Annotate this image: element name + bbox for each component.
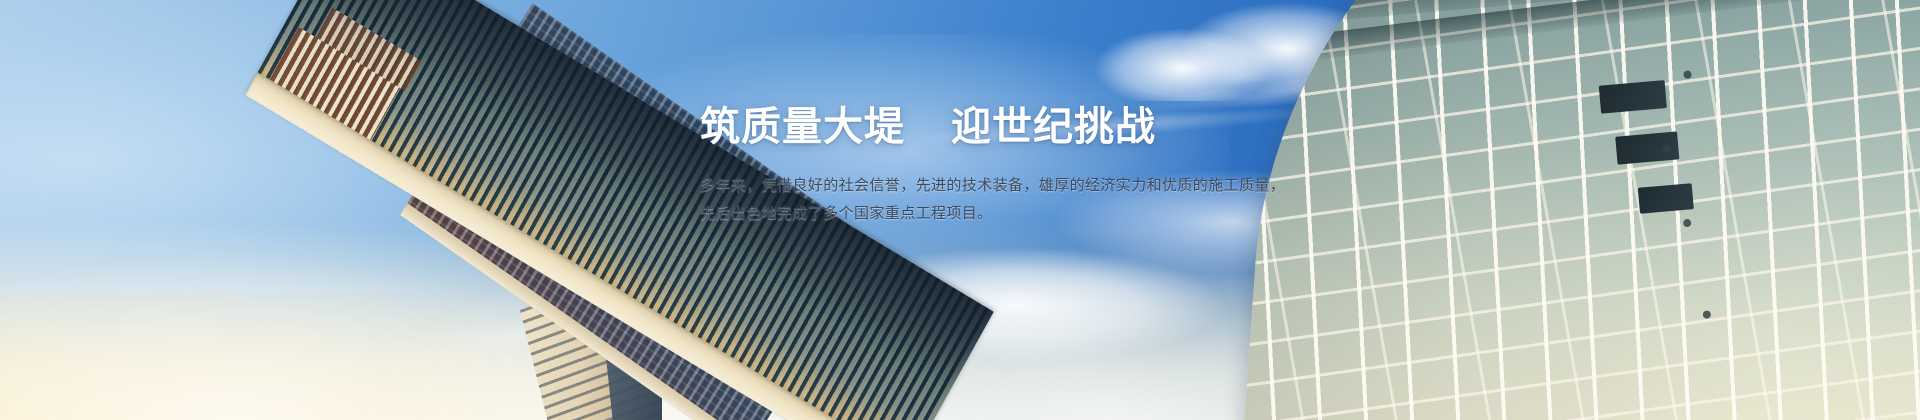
curved-tower-window-slot	[1599, 80, 1667, 114]
banner-headline: 筑质量大堤迎世纪挑战	[700, 104, 1340, 150]
banner-subtitle-line-1: 多年来，凭借良好的社会信誉，先进的技术装备，雄厚的经济实力和优质的施工质量，	[700, 172, 1340, 200]
curved-tower-window-slot	[1638, 183, 1694, 214]
banner-copy-block: 筑质量大堤迎世纪挑战 多年来，凭借良好的社会信誉，先进的技术装备，雄厚的经济实力…	[700, 104, 1340, 228]
banner-subtitle-line-2: 先后出色地完成了多个国家重点工程项目。	[700, 200, 1340, 228]
headline-part-2: 迎世纪挑战	[951, 105, 1156, 149]
hero-banner: 筑质量大堤迎世纪挑战 多年来，凭借良好的社会信誉，先进的技术装备，雄厚的经济实力…	[0, 0, 1920, 420]
headline-part-1: 筑质量大堤	[700, 105, 905, 149]
tilted-skyscraper-left	[245, 95, 675, 420]
banner-subtitle: 多年来，凭借良好的社会信誉，先进的技术装备，雄厚的经济实力和优质的施工质量， 先…	[700, 172, 1340, 228]
